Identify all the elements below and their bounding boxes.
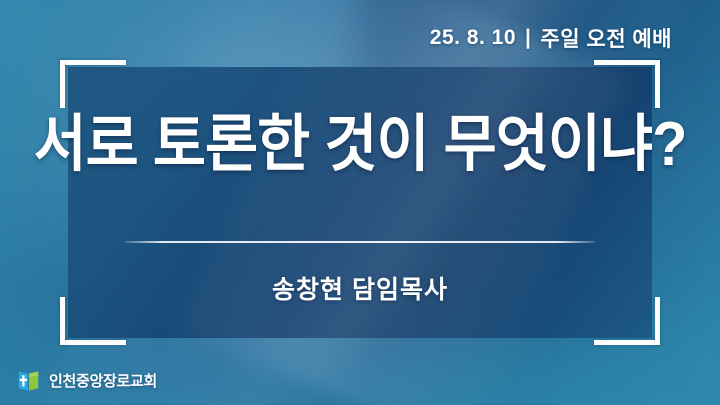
speaker-name: 송창현 담임목사: [0, 270, 720, 306]
service-date: 25. 8. 10: [430, 26, 516, 50]
open-book-cross-icon: [15, 367, 42, 394]
sermon-title: 서로 토론한 것이 무엇이냐?: [25, 112, 695, 177]
service-name: 주일 오전 예배: [540, 23, 672, 53]
header-meta: 25. 8. 10 | 주일 오전 예배: [430, 23, 672, 53]
church-name: 인천중앙장로교회: [49, 370, 157, 391]
church-logo: 인천중앙장로교회: [15, 367, 157, 394]
header-separator: |: [525, 26, 531, 50]
title-divider: [125, 241, 595, 243]
sermon-title-slide: 25. 8. 10 | 주일 오전 예배 서로 토론한 것이 무엇이냐? 송창현…: [0, 0, 720, 405]
